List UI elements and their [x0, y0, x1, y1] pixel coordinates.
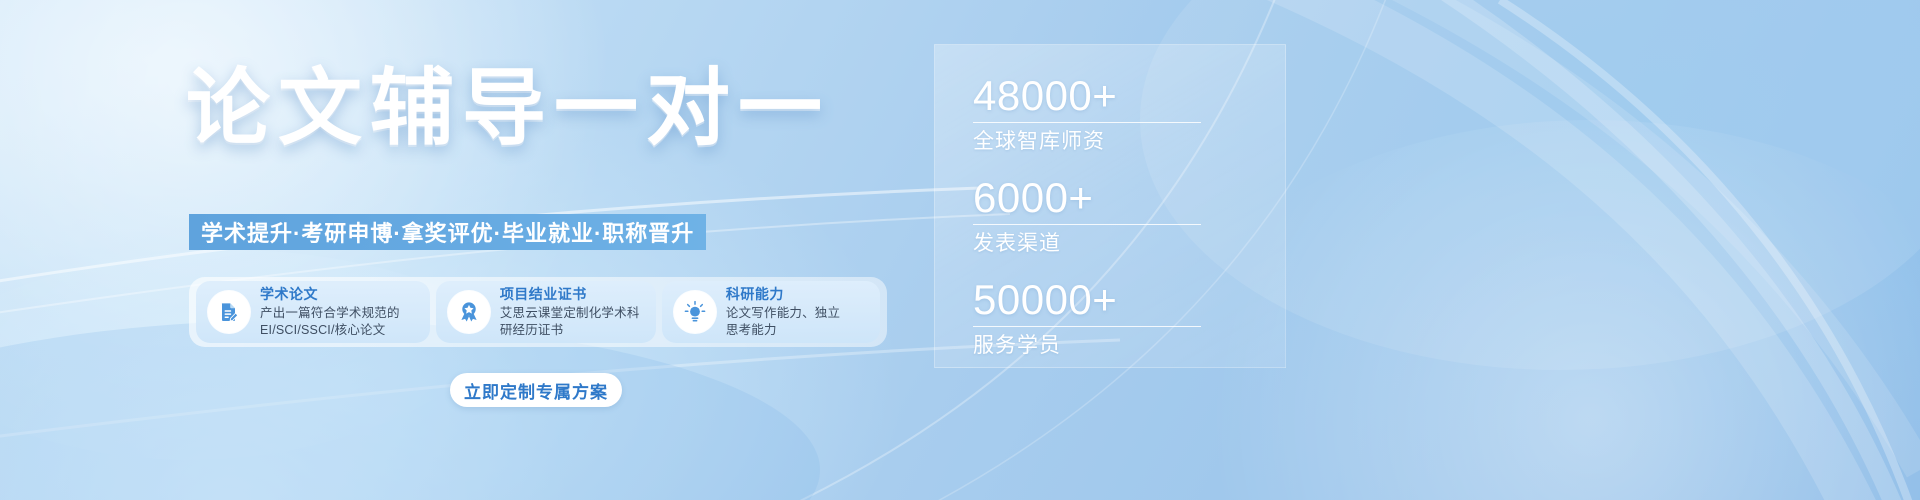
feature-card-desc-line2: 思考能力: [726, 323, 840, 338]
medal-award-icon: [448, 291, 490, 333]
feature-card-title: 项目结业证书: [500, 286, 587, 302]
feature-card-desc-line2: 研经历证书: [500, 323, 640, 338]
feature-card-desc-line1: 产出一篇符合学术规范的: [260, 306, 400, 321]
feature-card-title: 学术论文: [260, 286, 318, 302]
stat-divider: [973, 326, 1201, 327]
stat-item-students: 50000+ 服务学员: [973, 277, 1251, 359]
document-edit-icon-svg: [217, 300, 241, 324]
customize-plan-button-label: 立即定制专属方案: [464, 378, 608, 403]
stat-label: 全球智库师资: [973, 129, 1251, 155]
feature-card-academic-paper[interactable]: 学术论文 产出一篇符合学术规范的 EI/SCI/SSCI/核心论文: [196, 281, 430, 343]
feature-card-desc-line1: 艾思云课堂定制化学术科: [500, 306, 640, 321]
stat-number: 48000+: [973, 73, 1251, 119]
subtitle-bar: 学术提升·考研申博·拿奖评优·毕业就业·职称晋升: [189, 214, 706, 250]
stat-label: 服务学员: [973, 333, 1251, 359]
stat-item-channels: 6000+ 发表渠道: [973, 175, 1251, 257]
feature-card-title: 科研能力: [726, 286, 784, 302]
feature-card-desc-line1: 论文写作能力、独立: [726, 306, 840, 321]
feature-card-desc-line2: EI/SCI/SSCI/核心论文: [260, 323, 400, 338]
promo-banner: 论文辅导一对一 学术提升·考研申博·拿奖评优·毕业就业·职称晋升 学术论文 产出…: [0, 0, 1920, 500]
feature-card-research-ability[interactable]: 科研能力 论文写作能力、独立 思考能力: [662, 281, 880, 343]
stat-number: 50000+: [973, 277, 1251, 323]
lightbulb-idea-icon: [674, 291, 716, 333]
customize-plan-button[interactable]: 立即定制专属方案: [450, 373, 622, 407]
page-title: 论文辅导一对一: [186, 60, 830, 156]
lightbulb-idea-icon-svg: [683, 300, 707, 324]
feature-card-text: 科研能力 论文写作能力、独立 思考能力: [726, 286, 840, 338]
subtitle-text: 学术提升·考研申博·拿奖评优·毕业就业·职称晋升: [201, 216, 694, 248]
stat-divider: [973, 224, 1201, 225]
medal-award-icon-svg: [457, 300, 481, 324]
feature-card-text: 学术论文 产出一篇符合学术规范的 EI/SCI/SSCI/核心论文: [260, 286, 400, 338]
feature-card-certificate[interactable]: 项目结业证书 艾思云课堂定制化学术科 研经历证书: [436, 281, 656, 343]
stats-panel: 48000+ 全球智库师资 6000+ 发表渠道 50000+ 服务学员: [934, 44, 1286, 368]
document-edit-icon: [208, 291, 250, 333]
stat-number: 6000+: [973, 175, 1251, 221]
stat-item-faculty: 48000+ 全球智库师资: [973, 73, 1251, 155]
feature-card-text: 项目结业证书 艾思云课堂定制化学术科 研经历证书: [500, 286, 640, 338]
stat-label: 发表渠道: [973, 231, 1251, 257]
stat-divider: [973, 122, 1201, 123]
feature-cards: 学术论文 产出一篇符合学术规范的 EI/SCI/SSCI/核心论文 项目结业证书…: [189, 277, 887, 347]
